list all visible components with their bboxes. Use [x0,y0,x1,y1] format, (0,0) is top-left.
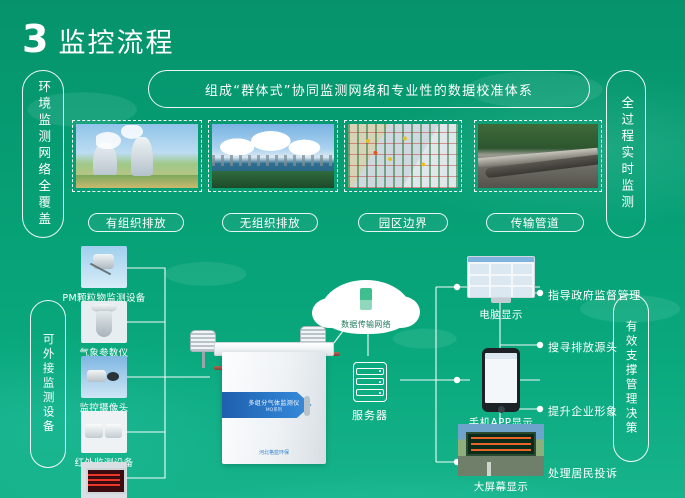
cabinet-title: 多组分气体监测仪 [248,398,299,407]
device-item-infrared: 红外监测设备 [58,411,150,469]
phone-icon [482,348,520,412]
monitor-screen [467,256,535,298]
server-label: 服务器 [342,407,398,423]
device-item-pm: PM颗粒物监测设备 [58,246,150,304]
photo-image-cooling-towers [76,124,198,188]
photo-caption-park-boundary: 园区边界 [358,213,448,232]
benefit-handle-complaints: 处理居民投诉 [548,465,618,481]
cabinet-brand: 河北格蓝环保 [259,449,289,456]
label-external-devices-text: 可外接监测设备 [41,333,54,435]
sensor-head-icon [190,330,216,352]
sensor-post-left [190,330,216,368]
label-decision-support-text: 有效支撑管理决策 [624,320,637,436]
label-environment-coverage: 环境监测网络全覆盖 [22,70,64,238]
photo-card-park-boundary [344,120,462,192]
infographic-canvas: 3 监控流程 环境监测网络全覆盖 全过程实时监测 可外接监测设备 有效支撑管理决… [0,0,685,498]
photo-card-organized-emission [72,120,202,192]
display-item-mobile: 手机APP显示 [462,348,540,430]
photo-caption-transport-pipeline: 传输管道 [486,213,584,232]
phone-screen [485,353,517,403]
monitor-icon [467,256,535,304]
server-icon [353,362,387,402]
smoke-plume-decor [96,125,155,151]
data-node-icon [360,288,372,310]
server-rack-unit [356,389,384,396]
cabinet-handle [304,396,310,416]
photo-card-unorganized-emission [208,120,338,192]
benefit-improve-image: 提升企业形象 [548,403,618,419]
photo-caption-unorganized-emission: 无组织排放 [222,213,318,232]
camera-icon [81,356,127,398]
sensor-stem [202,352,205,368]
data-transmission-cloud: 数据传输网络 [320,280,412,334]
headline-banner-text: 组成“群体式”协同监测网络和专业性的数据校准体系 [205,80,533,99]
led-billboard-icon [458,424,544,476]
server-rack-unit [356,378,384,385]
label-decision-support: 有效支撑管理决策 [613,294,649,462]
server-rack-unit [356,368,384,375]
monitor-dashboard-grid [468,262,534,298]
noise-display-icon [81,462,127,498]
label-environment-coverage-text: 环境监测网络全覆盖 [36,80,50,229]
cabinet-subtitle: MQ系列 [266,407,282,413]
section-number: 3 [22,20,47,58]
billboard-legs [479,462,524,476]
headline-banner: 组成“群体式”协同监测网络和专业性的数据校准体系 [148,70,590,108]
server-node: 服务器 [342,362,398,423]
cloud-label: 数据传输网络 [320,319,412,330]
infrared-sensor-icon [81,411,127,453]
led-panel [466,432,537,456]
pm-sensor-icon [81,246,127,288]
display-label-computer: 电脑显示 [455,307,547,322]
phone-home-button [498,406,505,413]
weather-sensor-icon [81,301,127,343]
photo-image-pipeline [478,124,598,188]
label-realtime-monitoring-text: 全过程实时监测 [619,96,633,212]
photo-image-park-map [348,124,458,188]
photo-caption-organized-emission: 有组织排放 [88,213,184,232]
display-item-bigscreen: 大屏幕显示 [455,424,547,494]
device-item-noise: 噪音监测设备 [58,462,150,498]
monitor-stand [491,298,511,303]
photo-card-transport-pipeline [474,120,602,192]
gas-monitoring-cabinet: 多组分气体监测仪 MQ系列 河北格蓝环保 [222,352,326,464]
display-item-computer: 电脑显示 [455,256,547,322]
benefit-government-supervision: 指导政府监督管理 [548,287,641,303]
benefit-find-emission-source: 搜寻排放源头 [548,339,618,355]
device-item-camera: 监控摄像头 [58,356,150,414]
display-label-bigscreen: 大屏幕显示 [455,479,547,494]
treeline-decor [212,171,334,188]
skyline-decor [212,155,334,167]
device-item-weather: 气象参数仪 [58,301,150,359]
ground-decor [76,175,198,188]
page-title: 3 监控流程 [22,20,174,58]
label-realtime-monitoring: 全过程实时监测 [606,70,646,238]
section-title: 监控流程 [58,30,174,57]
photo-image-river-skyline [212,124,334,188]
